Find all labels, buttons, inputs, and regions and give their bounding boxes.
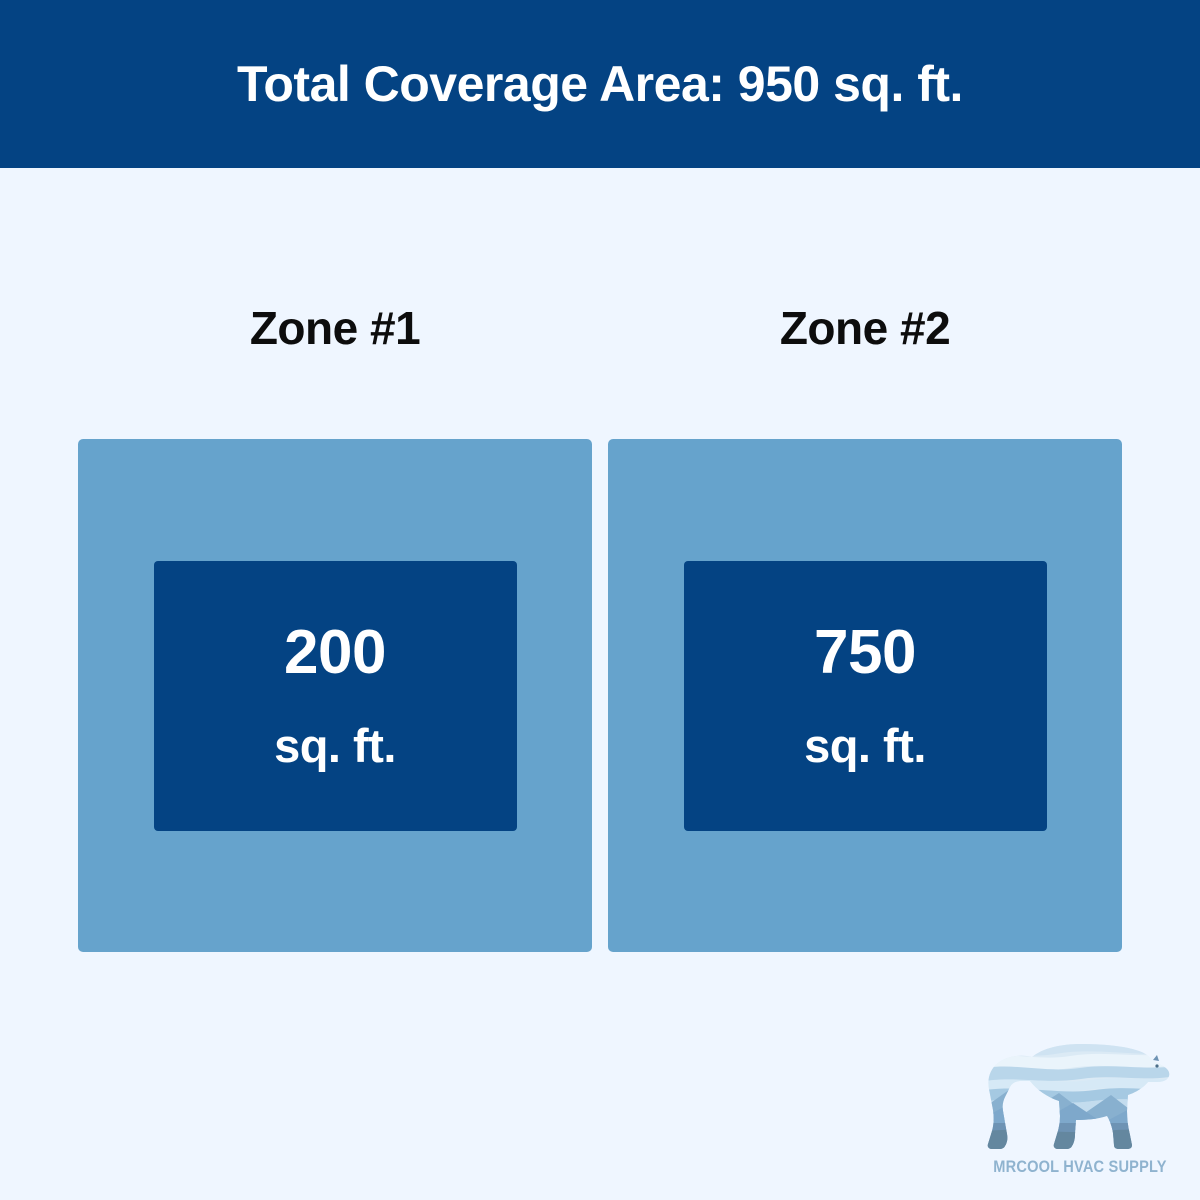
zone-label-1: Zone #1 [250, 300, 420, 356]
zone-outer-area-1: 200 sq. ft. [78, 439, 592, 952]
zone-card-2: Zone #2 750 sq. ft. [608, 300, 1122, 952]
header-bar: Total Coverage Area: 950 sq. ft. [0, 0, 1200, 168]
zone-value-1: 200 [284, 622, 386, 684]
bear-landscape-fill [985, 1035, 1175, 1153]
zone-outer-area-2: 750 sq. ft. [608, 439, 1122, 952]
zone-label-2: Zone #2 [780, 300, 950, 356]
brand-logo: MRCOOL HVAC SUPPLY [975, 1035, 1185, 1190]
coverage-area-infographic: Total Coverage Area: 950 sq. ft. Zone #1… [0, 0, 1200, 1200]
page-title: Total Coverage Area: 950 sq. ft. [237, 59, 963, 109]
bear-ear-icon [1153, 1055, 1159, 1061]
zone-unit-2: sq. ft. [804, 722, 926, 769]
zone-inner-area-2: 750 sq. ft. [684, 561, 1047, 831]
polar-bear-icon [985, 1035, 1175, 1153]
bear-eye-icon [1155, 1064, 1158, 1067]
logo-wordmark: MRCOOL HVAC SUPPLY [990, 1157, 1171, 1177]
zone-card-1: Zone #1 200 sq. ft. [78, 300, 592, 952]
zone-inner-area-1: 200 sq. ft. [154, 561, 517, 831]
zones-row: Zone #1 200 sq. ft. Zone #2 750 sq. ft. [78, 300, 1122, 952]
zone-unit-1: sq. ft. [274, 722, 396, 769]
zone-value-2: 750 [814, 622, 916, 684]
